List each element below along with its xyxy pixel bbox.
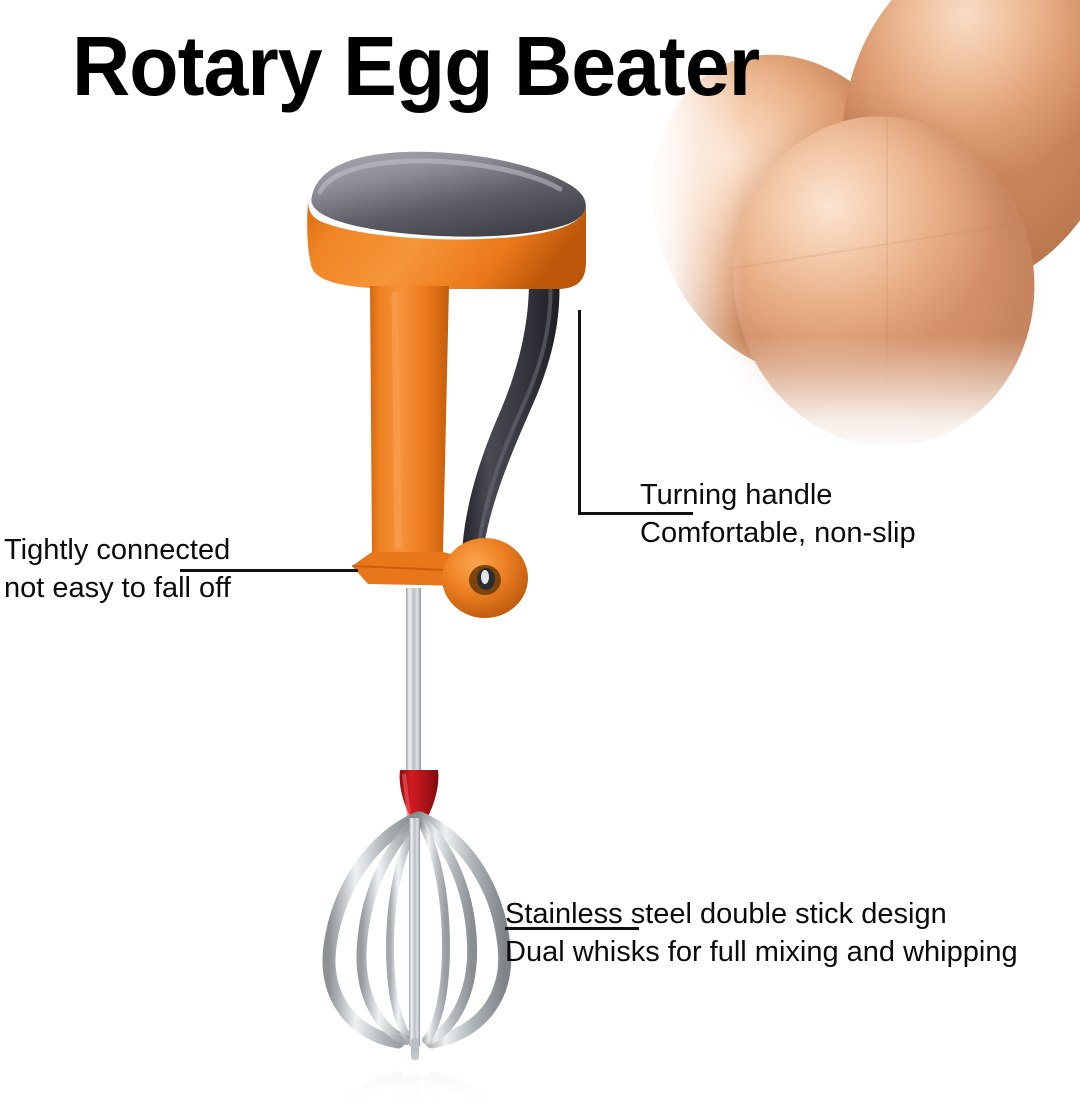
body-grip [370, 286, 449, 552]
callout-tightly-connected-line2: not easy to fall off [4, 569, 231, 607]
callout-stainless-whisk-line1: Stainless steel double stick design [505, 895, 1018, 933]
callout-stainless-whisk: Stainless steel double stick design Dual… [505, 895, 1018, 971]
callout-turning-handle-line2: Comfortable, non-slip [640, 514, 916, 552]
callout-stainless-whisk-line2: Dual whisks for full mixing and whipping [505, 933, 1018, 971]
leader-line-turning-handle-vertical [578, 310, 581, 515]
pivot-knob [442, 538, 528, 618]
callout-tightly-connected-line1: Tightly connected [4, 531, 231, 569]
crank-handle [462, 243, 560, 572]
callout-tightly-connected: Tightly connected not easy to fall off [4, 531, 231, 607]
egg-seam-vertical [886, 118, 888, 448]
reflection [250, 1046, 610, 1113]
top-cap [311, 152, 585, 237]
page-title: Rotary Egg Beater [72, 18, 759, 114]
whisk-tip [411, 1038, 419, 1060]
red-collar [400, 770, 439, 820]
body-head [307, 200, 586, 289]
egg-seam-horizontal [730, 221, 1027, 269]
steel-shaft [406, 588, 421, 784]
whisk-loops [329, 818, 505, 1042]
callout-turning-handle-line1: Turning handle [640, 476, 916, 514]
base-flange [352, 552, 486, 586]
product-infographic: Rotary Egg Beater [0, 0, 1080, 1113]
whisk-center-rod [409, 818, 420, 1046]
callout-turning-handle: Turning handle Comfortable, non-slip [640, 476, 916, 552]
